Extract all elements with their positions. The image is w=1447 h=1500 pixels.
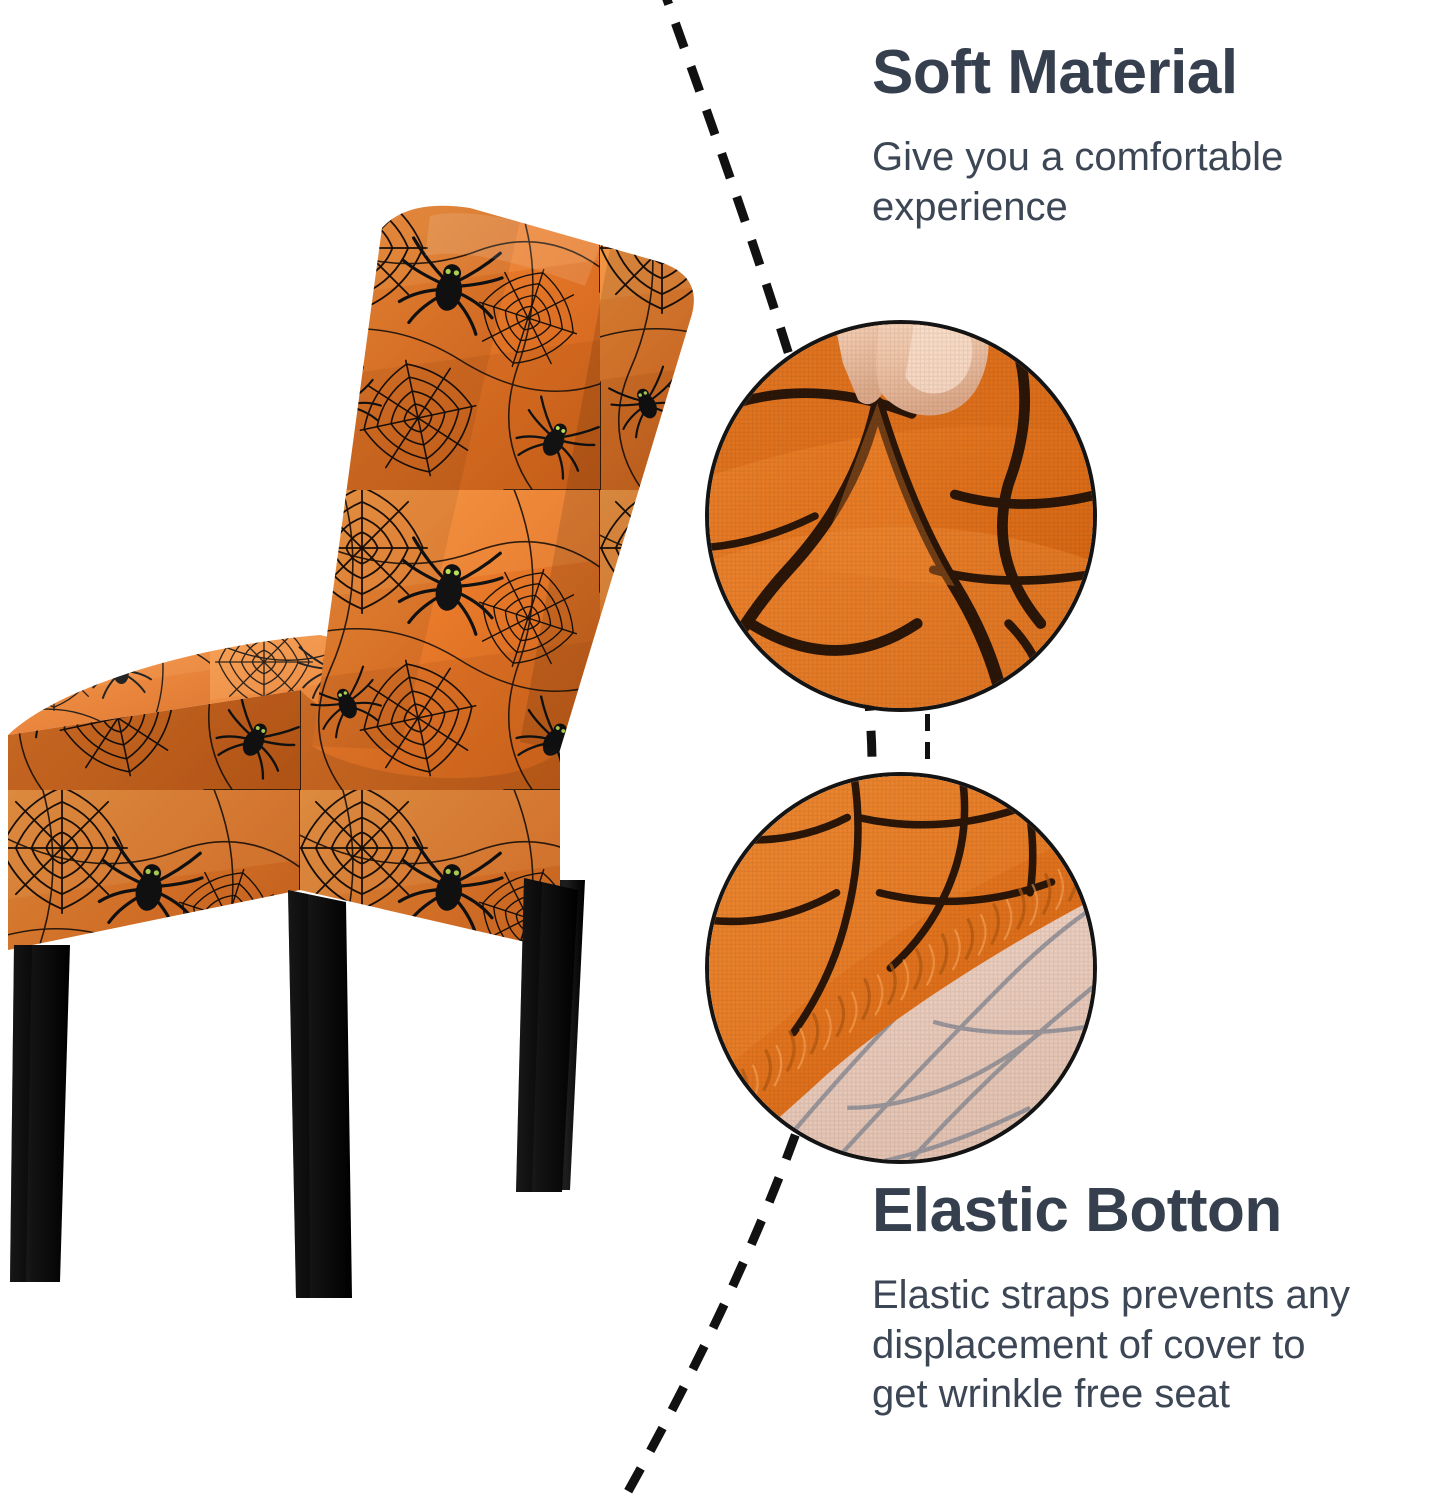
soft-material-body-line-1: Give you a comfortable <box>872 133 1392 183</box>
vertical-dashed-connector <box>925 714 930 770</box>
soft-material-heading: Soft Material <box>872 40 1392 107</box>
elastic-botton-body-line-1: Elastic straps prevents any <box>872 1271 1432 1321</box>
elastic-botton-heading: Elastic Botton <box>872 1178 1432 1245</box>
elastic-hem-macro <box>705 772 1097 1164</box>
dining-chair-with-cover <box>0 190 700 1310</box>
elastic-bottom-detail-circle <box>705 772 1097 1164</box>
chair-leg-front-left <box>10 945 70 1282</box>
soft-material-text-block: Soft Material Give you a comfortable exp… <box>872 40 1392 232</box>
chair-leg-front-right <box>288 890 352 1298</box>
elastic-botton-text-block: Elastic Botton Elastic straps prevents a… <box>872 1178 1432 1420</box>
elastic-botton-body-line-2: displacement of cover to <box>872 1321 1432 1371</box>
infographic-canvas: Soft Material Give you a comfortable exp… <box>0 0 1447 1500</box>
soft-material-detail-circle <box>705 320 1097 712</box>
chair-backrest <box>312 206 694 778</box>
soft-material-body-line-2: experience <box>872 183 1392 233</box>
elastic-botton-body-line-3: get wrinkle free seat <box>872 1370 1432 1420</box>
pinched-fabric-macro <box>705 320 1097 712</box>
